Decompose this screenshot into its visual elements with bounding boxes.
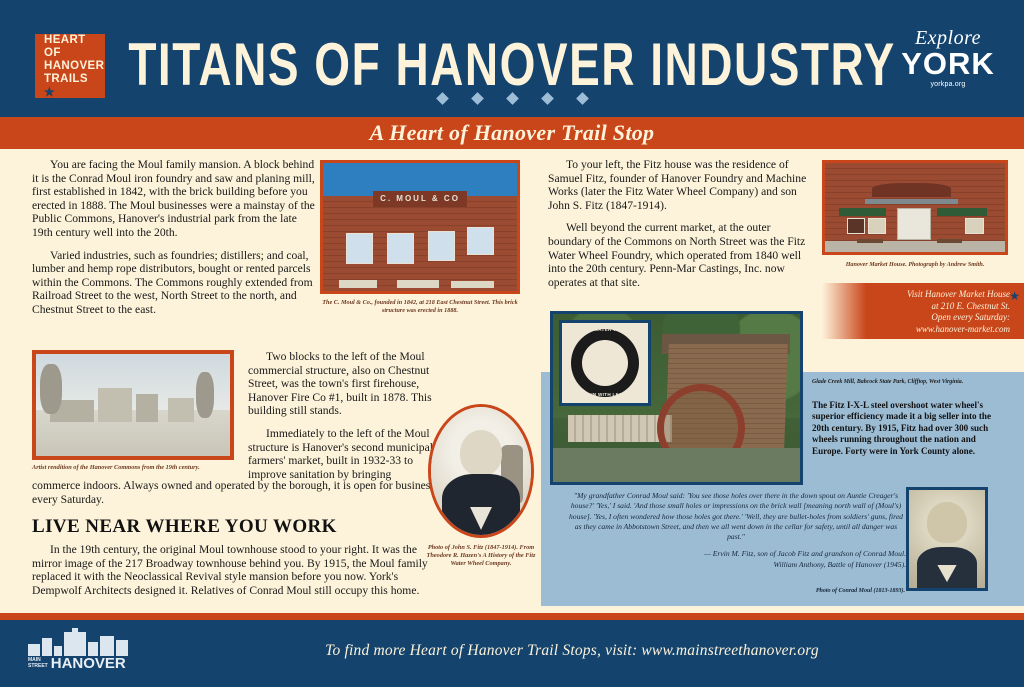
diamond-icon xyxy=(436,92,449,105)
moul-building-sign-text: C. MOUL & CO xyxy=(323,194,517,203)
visit-line-3: Open every Saturday: xyxy=(907,312,1010,324)
ixl-water-wheel-text: The Fitz I-X-L steel overshoot water whe… xyxy=(812,400,1008,457)
commons-caption: Artist rendition of the Hanover Commons … xyxy=(32,464,234,472)
conrad-moul-quote-block: "My grandfather Conrad Moul said: 'You s… xyxy=(566,491,906,570)
explore-york-logo: Explore YORK yorkpa.org xyxy=(900,28,996,88)
conrad-moul-photo-caption: Photo of Conrad Moul (1813-1893). xyxy=(700,588,905,594)
moul-building-photo: C. MOUL & CO xyxy=(320,160,520,294)
visit-line-2: at 210 E. Chestnut St. xyxy=(907,301,1010,313)
market-house-caption: Hanover Market House. Photograph by Andr… xyxy=(822,261,1008,269)
visit-market-house-box: ★ Visit Hanover Market House at 210 E. C… xyxy=(822,283,1024,339)
john-fitz-portrait-figure: Photo of John S. Fitz (1847-1914). From … xyxy=(425,404,537,568)
visit-line-1: Visit Hanover Market House xyxy=(907,289,1010,301)
right-paragraph-1: To your left, the Fitz house was the res… xyxy=(548,158,816,212)
glade-creek-mill-figure: FITZ WATER WHEELS THAT RUN WITH LESS WAT… xyxy=(550,311,803,485)
explore-york-url: yorkpa.org xyxy=(900,81,996,88)
right-column-top: To your left, the Fitz house was the res… xyxy=(548,158,816,298)
market-house-figure: Hanover Market House. Photograph by Andr… xyxy=(822,160,1008,269)
conrad-moul-portrait-photo xyxy=(906,487,988,591)
diamond-icon xyxy=(541,92,554,105)
diamond-icon xyxy=(471,92,484,105)
attribution-line-1: — Ervin M. Fitz, son of Jacob Fitz and g… xyxy=(566,549,906,559)
left-paragraph-4-end: commerce indoors. Always owned and opera… xyxy=(32,479,436,506)
conrad-moul-portrait-figure xyxy=(906,487,988,591)
left-column-middle: Two blocks to the left of the Moul comme… xyxy=(248,350,434,490)
left-paragraph-1: You are facing the Moul family mansion. … xyxy=(32,158,316,240)
fitz-logo-top-text: FITZ WATER WHEELS xyxy=(562,327,654,332)
footer-call-to-action[interactable]: To find more Heart of Hanover Trail Stop… xyxy=(0,642,1024,660)
explore-york-script: Explore xyxy=(900,28,996,48)
subtitle-text: A Heart of Hanover Trail Stop xyxy=(370,120,655,146)
attribution-line-2: William Anthony, Battle of Hanover (1945… xyxy=(566,560,906,570)
fitz-logo-bottom-text: THAT RUN WITH LESS WATER xyxy=(562,392,654,397)
left-paragraph-4-start: Immediately to the left of the Moul stru… xyxy=(248,427,434,481)
market-house-photo xyxy=(822,160,1008,255)
left-column-top: You are facing the Moul family mansion. … xyxy=(32,158,316,326)
moul-building-caption: The C. Moul & Co., founded in 1842, at 2… xyxy=(320,299,520,316)
subtitle-bar: A Heart of Hanover Trail Stop xyxy=(0,117,1024,149)
explore-york-word: YORK xyxy=(900,48,996,79)
section-heading-live-near-work: LIVE NEAR WHERE YOU WORK xyxy=(32,516,436,538)
fitz-water-wheels-logo: FITZ WATER WHEELS THAT RUN WITH LESS WAT… xyxy=(559,320,651,406)
interpretive-sign: HEART OF HANOVER TRAILS★ TITANS OF HANOV… xyxy=(0,0,1024,687)
page-title: TITANS OF HANOVER INDUSTRY xyxy=(0,28,1024,99)
visit-line-4-url[interactable]: www.hanover-market.com xyxy=(907,324,1010,336)
quote-text: "My grandfather Conrad Moul said: 'You s… xyxy=(566,491,906,542)
moul-building-figure: C. MOUL & CO The C. Moul & Co., founded … xyxy=(320,160,520,316)
john-fitz-portrait-caption: Photo of John S. Fitz (1847-1914). From … xyxy=(425,544,537,568)
footer-divider-rule xyxy=(0,613,1024,620)
diamond-icon xyxy=(506,92,519,105)
right-paragraph-2: Well beyond the current market, at the o… xyxy=(548,221,816,289)
header-bar: HEART OF HANOVER TRAILS★ TITANS OF HANOV… xyxy=(0,0,1024,117)
glade-creek-mill-caption: Glade Creek Mill, Babcock State Park, Cl… xyxy=(812,378,1012,386)
commons-illustration-figure: Artist rendition of the Hanover Commons … xyxy=(32,350,234,472)
john-fitz-portrait-image xyxy=(428,404,534,538)
diamond-divider xyxy=(0,90,1024,108)
left-paragraph-3: Two blocks to the left of the Moul comme… xyxy=(248,350,434,418)
commons-illustration-image xyxy=(32,350,234,460)
diamond-icon xyxy=(576,92,589,105)
left-paragraph-5: In the 19th century, the original Moul t… xyxy=(32,543,436,597)
left-paragraph-2: Varied industries, such as foundries; di… xyxy=(32,249,316,317)
logo-word-street: STREET xyxy=(28,664,48,669)
quote-attribution: — Ervin M. Fitz, son of Jacob Fitz and g… xyxy=(566,549,906,570)
visit-box-text: Visit Hanover Market House at 210 E. Che… xyxy=(907,289,1010,335)
left-column-bottom: commerce indoors. Always owned and opera… xyxy=(32,479,436,607)
glade-creek-mill-photo: FITZ WATER WHEELS THAT RUN WITH LESS WAT… xyxy=(550,311,803,485)
footer-bar: MAIN STREET HANOVER To find more Heart o… xyxy=(0,620,1024,687)
star-icon: ★ xyxy=(1009,289,1020,304)
